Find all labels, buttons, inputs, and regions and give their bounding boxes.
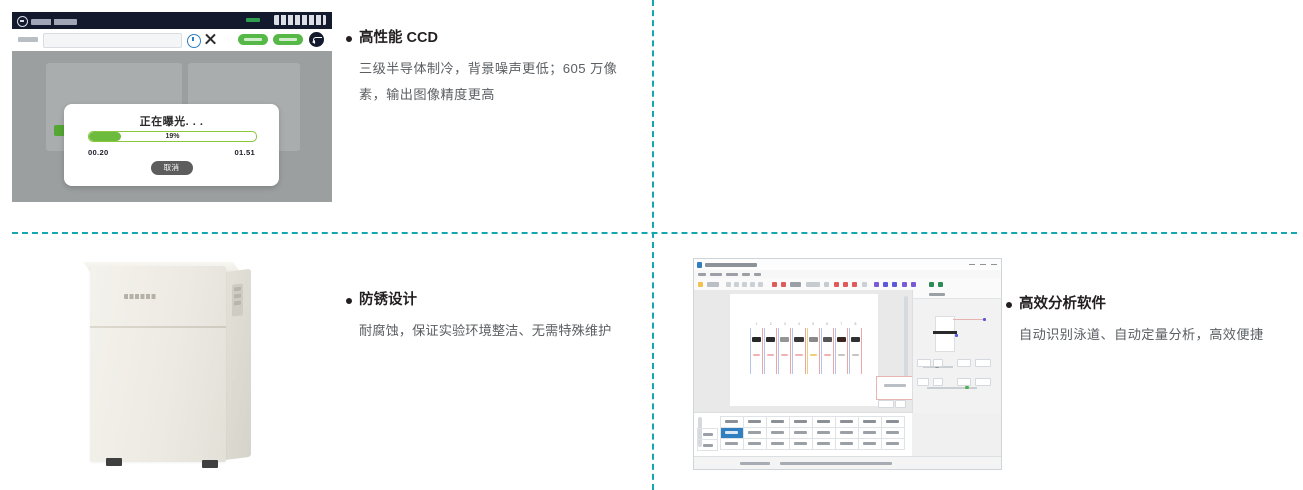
table-header-row <box>720 416 904 427</box>
lane[interactable]: 1 <box>750 328 763 374</box>
cabinet-foot-right <box>202 460 218 468</box>
feature-title: 高性能 CCD <box>359 30 438 47</box>
measure-line <box>953 319 985 320</box>
results-table-area <box>694 412 912 457</box>
menu-item-file[interactable] <box>698 273 706 276</box>
maximize-icon[interactable] <box>980 262 986 267</box>
feature-heading: 高效分析软件 <box>1006 296 1296 313</box>
exposure-dialog-title: 正在曝光. . . <box>64 113 279 129</box>
green-action-button-2[interactable] <box>273 34 303 45</box>
cabinet-side-slit <box>232 382 235 410</box>
feature-text-ccd: 高性能 CCD 三级半导体制冷，背景噪声更低；605 万像素，输出图像精度更高 <box>346 30 626 108</box>
results-table[interactable] <box>720 416 904 449</box>
peak2-icon[interactable] <box>852 282 857 287</box>
dock-field-4[interactable] <box>975 359 991 367</box>
lane[interactable]: 3 <box>778 328 791 374</box>
cancel-button[interactable]: 取消 <box>151 161 193 175</box>
tool-icon-4[interactable] <box>750 282 755 287</box>
table-cell[interactable] <box>881 438 905 450</box>
chart-icon[interactable] <box>938 282 943 287</box>
back-icon[interactable] <box>309 32 324 47</box>
gel-canvas[interactable]: 1 2 3 4 5 6 7 8 <box>694 290 912 413</box>
feature-body: 耐腐蚀，保证实验环境整洁、无需特殊维护 <box>359 318 646 344</box>
bullet-icon <box>346 298 352 304</box>
exposure-elapsed-time: 00.20 <box>88 148 109 157</box>
tool-icon-5[interactable] <box>758 282 763 287</box>
row-label-2 <box>697 439 718 451</box>
curve-icon[interactable] <box>892 282 897 287</box>
table-cell[interactable] <box>858 438 882 450</box>
cabinet-brand-logo <box>124 294 156 299</box>
menu-item-view[interactable] <box>726 273 738 276</box>
feature-body: 三级半导体制冷，背景噪声更低；605 万像素，输出图像精度更高 <box>359 56 626 107</box>
cabinet-front <box>90 266 226 462</box>
band-preview[interactable] <box>935 316 955 352</box>
feature-title: 防锈设计 <box>359 292 417 309</box>
device-logo <box>17 16 77 27</box>
lane-set: 1 2 3 4 5 6 7 8 <box>750 328 862 374</box>
dock-field-6[interactable] <box>933 378 943 386</box>
table-cell[interactable] <box>835 438 859 450</box>
dock-field-8[interactable] <box>975 378 991 386</box>
tool-icon-1[interactable] <box>726 282 731 287</box>
feature-body: 自动识别泳道、自动定量分析，高效便捷 <box>1019 322 1296 348</box>
gel-image[interactable]: 1 2 3 4 5 6 7 8 <box>730 294 878 406</box>
menu-item-help[interactable] <box>754 273 761 276</box>
measure-icon[interactable] <box>806 282 820 287</box>
feature-text-analysis-software: 高效分析软件 自动识别泳道、自动定量分析，高效便捷 <box>1006 296 1296 348</box>
zoom-select-icon[interactable] <box>707 282 719 287</box>
tool-icon-2[interactable] <box>734 282 739 287</box>
contrast-knob[interactable] <box>965 386 969 390</box>
cabinet-vent-icon <box>232 283 243 316</box>
grid-icon[interactable] <box>824 282 829 287</box>
report-icon[interactable] <box>883 282 888 287</box>
dock-header <box>913 290 1001 299</box>
band-icon[interactable] <box>790 282 801 287</box>
dock-field-2[interactable] <box>933 359 943 367</box>
window-title-text <box>705 263 757 267</box>
status-bar <box>694 456 1001 469</box>
analysis-software-window: 1 2 3 4 5 6 7 8 <box>693 258 1002 470</box>
contrast-slider[interactable] <box>927 387 977 389</box>
dock-title <box>929 293 945 296</box>
exposure-dialog: 正在曝光. . . 19% 00.20 01.51 取消 <box>64 104 279 186</box>
minimize-icon[interactable] <box>969 262 975 267</box>
lane[interactable]: 7 <box>835 328 848 374</box>
feature-grid: 正在曝光. . . 19% 00.20 01.51 取消 高性能 CCD 三级半… <box>0 0 1303 490</box>
toolbar-label <box>18 37 38 42</box>
right-dock <box>912 290 1001 413</box>
close-icon[interactable] <box>991 262 997 267</box>
logo-wordmark <box>31 19 77 25</box>
table-cell[interactable] <box>789 438 813 450</box>
close-icon[interactable] <box>204 33 217 46</box>
lane-popup[interactable] <box>876 376 914 400</box>
device-screenshot-exposure: 正在曝光. . . 19% 00.20 01.51 取消 <box>12 12 332 202</box>
instrument-photo-cabinet <box>62 252 302 482</box>
lane[interactable]: 6 <box>821 328 834 374</box>
logo-icon <box>17 16 28 27</box>
preview-band <box>933 331 957 334</box>
menu-item-tools[interactable] <box>742 273 750 276</box>
dock-field-1[interactable] <box>917 359 931 367</box>
device-toolbar <box>12 29 332 51</box>
popup-field-2[interactable] <box>895 400 906 408</box>
lane[interactable]: 5 <box>807 328 820 374</box>
filename-input[interactable] <box>43 33 182 48</box>
clock-icon[interactable] <box>187 34 201 48</box>
dock-field-7[interactable] <box>957 378 971 386</box>
table-cell[interactable] <box>743 438 767 450</box>
crop-icon[interactable] <box>862 282 867 287</box>
export-icon[interactable] <box>911 282 916 287</box>
lane[interactable]: 8 <box>849 328 862 374</box>
window-icon <box>697 262 702 268</box>
status-text-1 <box>740 462 770 465</box>
feature-text-anti-rust: 防锈设计 耐腐蚀，保证实验环境整洁、无需特殊维护 <box>346 292 646 344</box>
device-content-area: 正在曝光. . . 19% 00.20 01.51 取消 <box>12 51 332 202</box>
tool-icon-3[interactable] <box>742 282 747 287</box>
temperature-indicator <box>246 18 260 22</box>
table-cell[interactable] <box>812 438 836 450</box>
dock-field-5[interactable] <box>917 378 929 386</box>
open-icon[interactable] <box>698 282 703 287</box>
exposure-progress-percent: 19% <box>89 132 256 141</box>
cabinet-foot-left <box>106 458 122 466</box>
peak-icon[interactable] <box>843 282 848 287</box>
device-header-bar <box>12 12 332 29</box>
lane[interactable]: 2 <box>764 328 777 374</box>
brand-wordmark <box>274 15 326 25</box>
feature-title: 高效分析软件 <box>1019 296 1106 313</box>
dock-field-3[interactable] <box>957 359 971 367</box>
table-cell[interactable] <box>720 438 744 450</box>
measure-node-1[interactable] <box>983 318 986 321</box>
exposure-progress-bar: 19% <box>88 131 257 142</box>
table-icon[interactable] <box>929 282 934 287</box>
lane-remove-icon[interactable] <box>781 282 786 287</box>
quantify-icon[interactable] <box>874 282 879 287</box>
green-action-button-1[interactable] <box>238 34 268 45</box>
exposure-total-time: 01.51 <box>234 148 255 157</box>
lane[interactable]: 4 <box>792 328 805 374</box>
cabinet-door-seam <box>90 326 226 328</box>
menu-item-edit[interactable] <box>710 273 722 276</box>
bullet-icon <box>1006 302 1012 308</box>
feature-heading: 高性能 CCD <box>346 30 626 47</box>
lane-detect-icon[interactable] <box>772 282 777 287</box>
analyze-icon[interactable] <box>902 282 907 287</box>
status-text-2 <box>780 462 892 465</box>
bullet-icon <box>346 36 352 42</box>
popup-field-1[interactable] <box>878 400 894 408</box>
feature-heading: 防锈设计 <box>346 292 646 309</box>
quadrant-ccd: 正在曝光. . . 19% 00.20 01.51 取消 高性能 CCD 三级半… <box>0 0 652 232</box>
quadrant-one-key-imaging: 一键成像 操作简便，选择对应参数，一键成像 <box>654 0 1303 232</box>
table-cell[interactable] <box>766 438 790 450</box>
table-row[interactable] <box>720 438 904 449</box>
table-row[interactable] <box>720 427 904 438</box>
marker-icon[interactable] <box>834 282 839 287</box>
measure-node-2[interactable] <box>955 334 958 337</box>
